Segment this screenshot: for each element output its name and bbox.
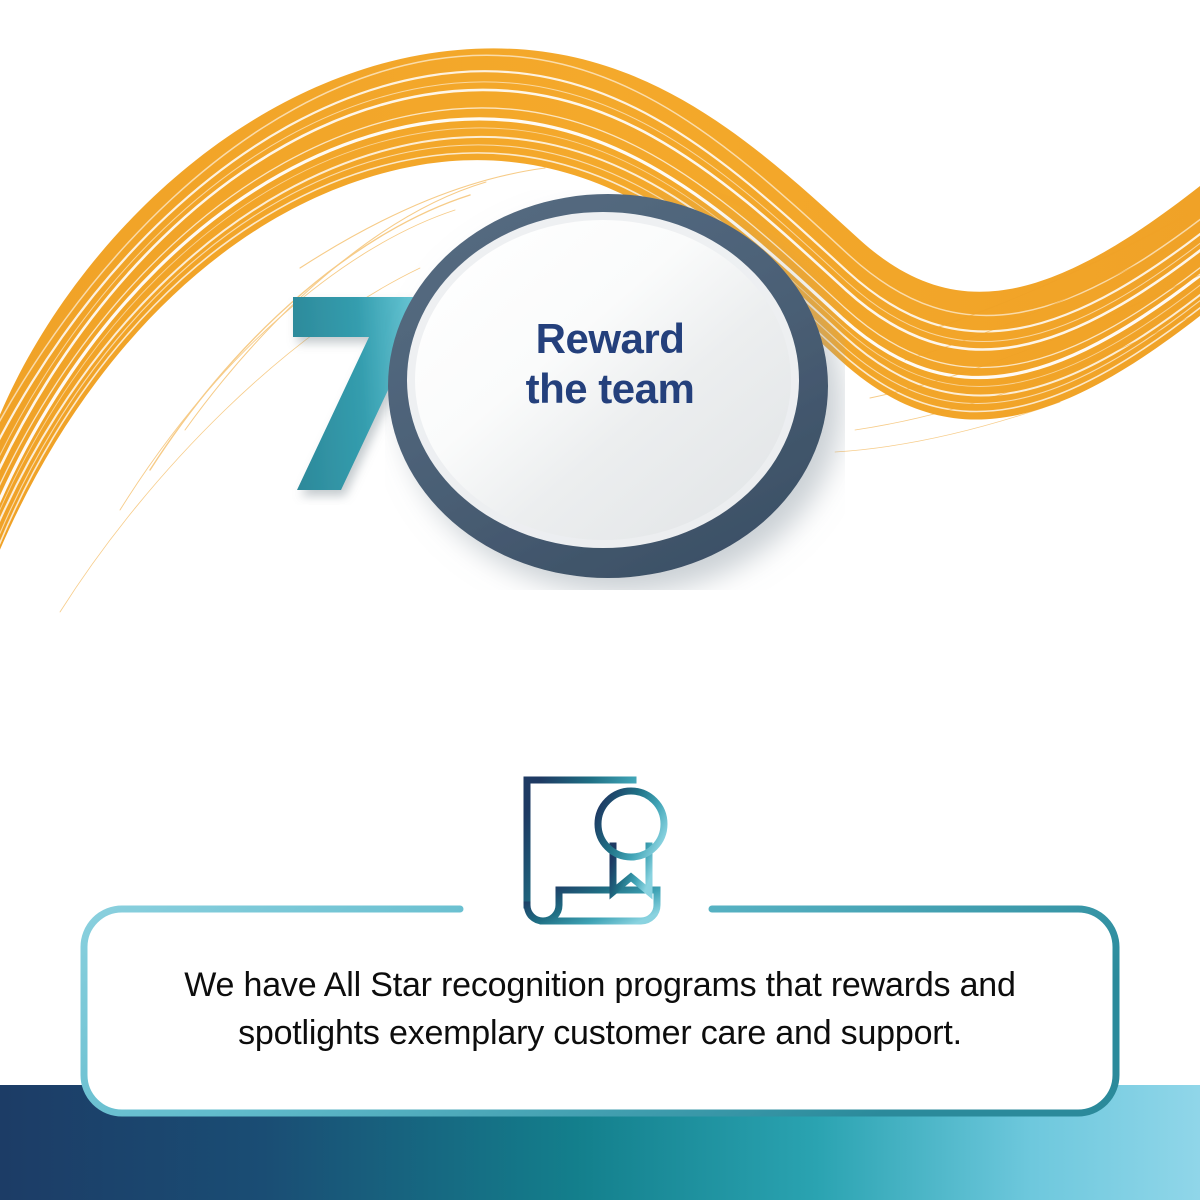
certificate-award-icon [505,762,695,947]
caption-line-2: spotlights exemplary customer care and s… [140,1009,1060,1057]
caption-line-1: We have All Star recognition programs th… [140,961,1060,1009]
reward-badge-oval: Reward the team [385,190,845,590]
infographic-canvas: Reward the team We have All Star recogni… [0,0,1200,1200]
caption-text: We have All Star recognition programs th… [140,961,1060,1058]
